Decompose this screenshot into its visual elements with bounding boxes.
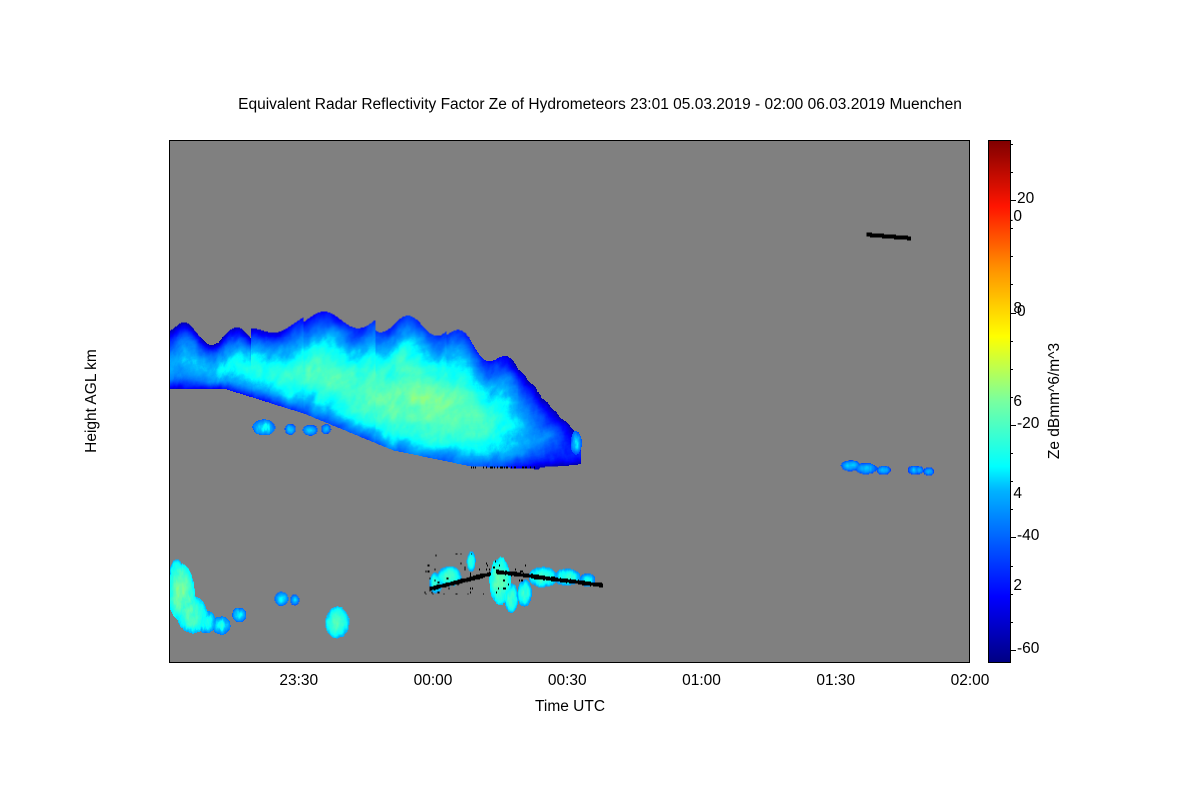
x-tick-minor — [259, 140, 260, 141]
x-tick-label: 00:30 — [548, 672, 587, 690]
y-tick-minor — [969, 149, 970, 150]
y-tick-minor — [169, 633, 170, 634]
y-tick-minor — [969, 287, 970, 288]
colorbar-tick-major — [1010, 650, 1016, 651]
colorbar-tick-minor — [1010, 509, 1013, 510]
x-tick-minor — [707, 140, 708, 141]
x-tick-minor — [215, 140, 216, 141]
x-tick-minor — [438, 662, 439, 663]
x-tick-minor — [215, 662, 216, 663]
x-tick-label: 23:30 — [279, 672, 318, 690]
y-tick-minor — [169, 149, 170, 150]
colorbar-tick-minor — [1010, 256, 1013, 257]
x-tick-minor — [394, 662, 395, 663]
x-tick-minor — [349, 140, 350, 141]
y-tick-minor — [969, 610, 970, 611]
y-tick-minor — [169, 195, 170, 196]
y-tick-major — [169, 495, 170, 496]
colorbar-tick-minor — [1010, 566, 1013, 567]
y-tick-minor — [169, 656, 170, 657]
colorbar-tick-minor — [1010, 622, 1013, 623]
radar-heatmap-plot — [169, 140, 970, 663]
y-tick-minor — [169, 472, 170, 473]
x-tick-minor — [931, 140, 932, 141]
colorbar-tick-minor — [1010, 369, 1013, 370]
y-tick-minor — [169, 287, 170, 288]
x-tick-minor — [573, 662, 574, 663]
y-tick-minor — [169, 241, 170, 242]
x-tick-minor — [707, 662, 708, 663]
figure-root: Equivalent Radar Reflectivity Factor Ze … — [0, 0, 1200, 800]
y-tick-minor — [969, 541, 970, 542]
y-tick-minor — [969, 656, 970, 657]
colorbar-tick-minor — [1010, 481, 1013, 482]
colorbar-tick-label: 0 — [1017, 303, 1026, 321]
y-tick-minor — [169, 426, 170, 427]
y-tick-minor — [969, 264, 970, 265]
y-tick-minor — [169, 333, 170, 334]
y-tick-label: 4 — [1013, 485, 1022, 503]
x-tick-minor — [662, 140, 663, 141]
x-tick-minor — [573, 140, 574, 141]
colorbar-tick-minor — [1010, 172, 1013, 173]
y-tick-minor — [169, 172, 170, 173]
colorbar-tick-label: -40 — [1017, 527, 1039, 545]
colorbar-tick-major — [1010, 200, 1016, 201]
colorbar-tick-minor — [1010, 284, 1013, 285]
y-tick-minor — [969, 379, 970, 380]
y-tick-minor — [169, 264, 170, 265]
y-tick-minor — [969, 356, 970, 357]
x-tick-minor — [438, 140, 439, 141]
y-tick-minor — [169, 518, 170, 519]
y-tick-major — [969, 310, 970, 311]
colorbar-tick-major — [1010, 537, 1016, 538]
x-tick-minor — [752, 662, 753, 663]
y-tick-minor — [969, 633, 970, 634]
x-tick-minor — [841, 662, 842, 663]
y-tick-major — [169, 403, 170, 404]
y-tick-minor — [169, 449, 170, 450]
colorbar-tick-minor — [1010, 594, 1013, 595]
colorbar-tick-minor — [1010, 144, 1013, 145]
colorbar-tick-minor — [1010, 453, 1013, 454]
y-tick-minor — [169, 356, 170, 357]
x-tick-label: 02:00 — [951, 672, 990, 690]
x-tick-minor — [170, 662, 171, 663]
y-tick-major — [969, 218, 970, 219]
colorbar-tick-label: -60 — [1017, 640, 1039, 658]
colorbar-tick-label: 20 — [1017, 190, 1034, 208]
y-tick-label: 2 — [1013, 577, 1022, 595]
y-tick-minor — [169, 564, 170, 565]
x-tick-minor — [528, 662, 529, 663]
x-tick-minor — [394, 140, 395, 141]
y-tick-minor — [169, 541, 170, 542]
y-tick-minor — [969, 449, 970, 450]
x-tick-minor — [349, 662, 350, 663]
heatmap-canvas — [170, 141, 969, 662]
x-tick-minor — [617, 662, 618, 663]
y-tick-major — [969, 403, 970, 404]
y-tick-minor — [969, 426, 970, 427]
x-tick-minor — [170, 140, 171, 141]
x-tick-label: 00:00 — [414, 672, 453, 690]
x-tick-minor — [886, 140, 887, 141]
y-tick-minor — [969, 241, 970, 242]
colorbar-gradient — [989, 141, 1010, 662]
y-tick-minor — [169, 379, 170, 380]
y-tick-major — [169, 587, 170, 588]
y-tick-minor — [969, 564, 970, 565]
x-tick-minor — [483, 662, 484, 663]
x-tick-minor — [796, 662, 797, 663]
colorbar-tick-major — [1010, 425, 1016, 426]
colorbar-title: Ze dBmm^6/m^3 — [1046, 343, 1064, 459]
y-tick-minor — [969, 472, 970, 473]
y-axis-title: Height AGL km — [83, 349, 101, 453]
x-tick-minor — [483, 140, 484, 141]
y-tick-minor — [169, 610, 170, 611]
x-tick-minor — [752, 140, 753, 141]
colorbar-tick-minor — [1010, 341, 1013, 342]
y-tick-major — [169, 310, 170, 311]
heatmap-canvas-wrap — [170, 141, 969, 662]
colorbar-tick-minor — [1010, 397, 1013, 398]
y-tick-minor — [969, 518, 970, 519]
colorbar-tick-major — [1010, 313, 1016, 314]
x-tick-label: 01:00 — [682, 672, 721, 690]
x-tick-minor — [886, 662, 887, 663]
y-tick-major — [969, 495, 970, 496]
y-tick-minor — [969, 195, 970, 196]
colorbar-tick-label: -20 — [1017, 415, 1039, 433]
y-tick-minor — [969, 333, 970, 334]
colorbar — [988, 140, 1011, 663]
x-tick-minor — [796, 140, 797, 141]
x-tick-minor — [304, 140, 305, 141]
x-axis-title: Time UTC — [535, 698, 605, 716]
x-tick-minor — [841, 140, 842, 141]
x-tick-minor — [528, 140, 529, 141]
x-tick-minor — [304, 662, 305, 663]
chart-title: Equivalent Radar Reflectivity Factor Ze … — [0, 96, 1200, 114]
x-tick-minor — [662, 662, 663, 663]
y-tick-minor — [969, 172, 970, 173]
y-tick-major — [169, 218, 170, 219]
x-tick-label: 01:30 — [816, 672, 855, 690]
colorbar-tick-minor — [1010, 228, 1013, 229]
y-tick-label: 6 — [1013, 393, 1022, 411]
x-tick-minor — [259, 662, 260, 663]
y-tick-major — [969, 587, 970, 588]
x-tick-minor — [617, 140, 618, 141]
x-tick-minor — [931, 662, 932, 663]
